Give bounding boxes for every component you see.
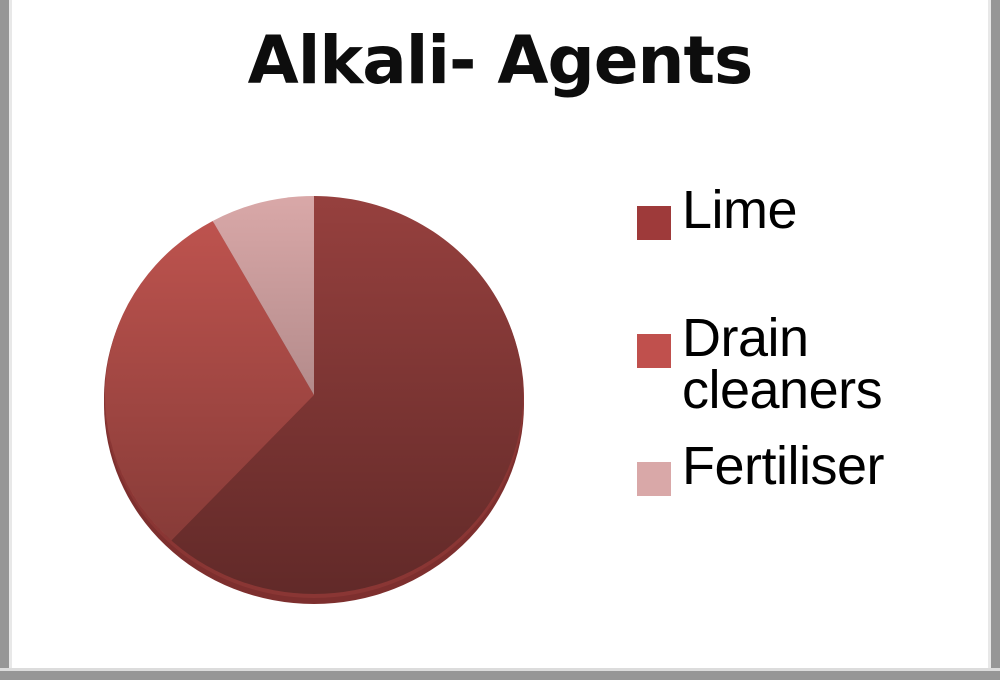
legend-label-lime: Lime (682, 184, 797, 236)
legend-swatch-fertiliser (637, 462, 671, 496)
pie-chart (100, 190, 530, 610)
frame-border-bottom-highlight (0, 668, 1000, 671)
pie-chart-svg (100, 190, 530, 610)
frame-border-right (991, 0, 1000, 680)
frame-border-bottom (0, 671, 1000, 680)
chart-legend: Lime Drain cleaners Fertiliser (630, 192, 990, 522)
slide-canvas: Alkali- Agents Lime Drain cleaner (0, 0, 1000, 680)
frame-border-left-highlight (9, 0, 12, 680)
legend-label-fertiliser: Fertiliser (682, 440, 884, 492)
legend-swatch-drain-cleaners (637, 334, 671, 368)
chart-title: Alkali- Agents (0, 26, 1000, 95)
legend-swatch-lime (637, 206, 671, 240)
legend-label-drain-cleaners: Drain cleaners (682, 312, 882, 416)
pie-slice-group (105, 196, 523, 594)
frame-border-left (0, 0, 9, 680)
